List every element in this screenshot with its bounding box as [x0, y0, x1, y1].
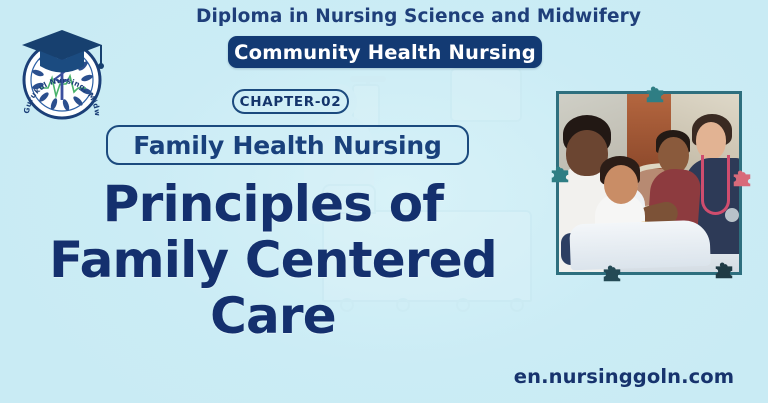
program-title: Diploma in Nursing Science and Midwifery: [196, 6, 592, 27]
website-url[interactable]: en.nursinggoln.com: [498, 365, 750, 388]
page-title: Principles of Family Centered Care: [8, 176, 538, 344]
puzzle-piece-icon: [644, 83, 666, 105]
family-centered-care-photo: [556, 91, 742, 275]
subject-banner: Community Health Nursing: [228, 36, 542, 68]
puzzle-piece-icon: [713, 259, 735, 281]
puzzle-piece-icon: [601, 262, 623, 284]
puzzle-piece-icon: [549, 163, 571, 185]
institute-logo: Gurukul Nursing, Midwifery & Patient Car…: [10, 14, 114, 124]
chapter-pill-label: CHAPTER-02: [240, 94, 342, 110]
chapter-pill: CHAPTER-02: [232, 89, 349, 114]
unit-pill: Family Health Nursing: [106, 125, 469, 165]
page-title-line-1: Principles of: [8, 176, 538, 232]
puzzle-piece-icon: [731, 167, 753, 189]
page-title-line-2: Family Centered: [8, 232, 538, 288]
poster-canvas: Gurukul Nursing, Midwifery & Patient Car…: [0, 0, 768, 403]
photo-scene: [559, 94, 739, 272]
page-title-line-3: Care: [8, 288, 538, 344]
unit-pill-label: Family Health Nursing: [133, 131, 441, 160]
subject-banner-label: Community Health Nursing: [234, 41, 536, 64]
